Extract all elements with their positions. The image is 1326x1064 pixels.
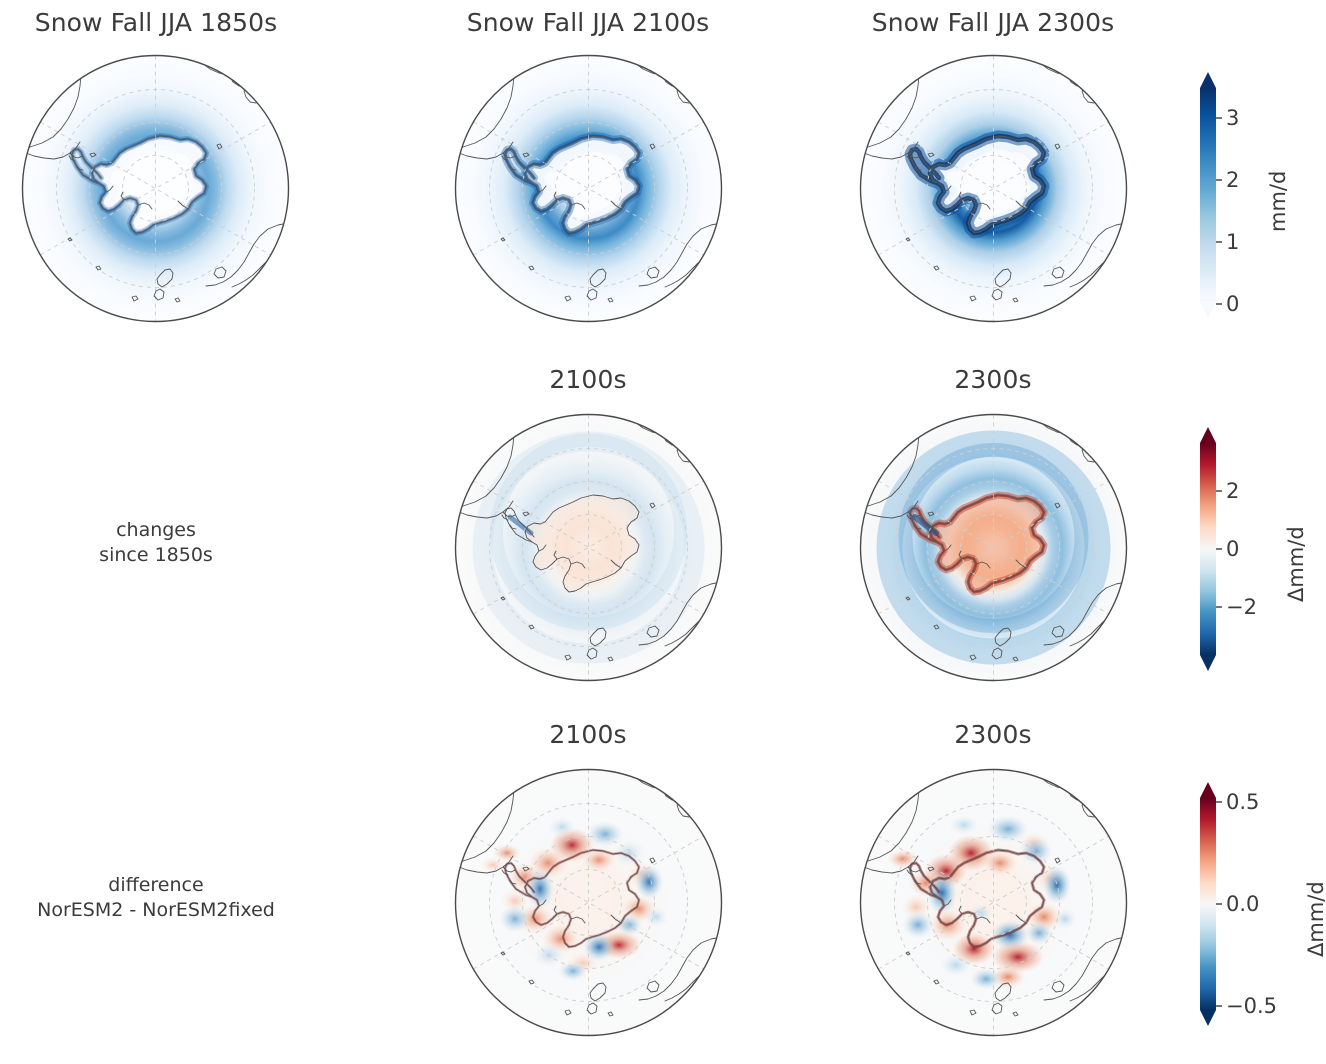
map-content-2300s-difference [858,769,1127,1036]
colorbar-changes: 2 0 −2 Δmm/d [1196,427,1226,671]
colorbar-absolute: 3 2 1 0 mm/d [1196,72,1226,316]
map-svg-r0c1 [453,53,724,324]
row-label-changes-line2: since 1850s [0,543,312,568]
colorbar-changes-extend-bottom [1200,655,1216,671]
map-svg-r2c1 [453,767,724,1038]
map-panel-r2c1[interactable] [453,767,724,1038]
colorbar-absolute-extend-bottom [1200,300,1216,316]
map-content-1850s-absolute [20,55,289,322]
panel-title-r1c1: 2100s [432,365,744,394]
map-panel-r0c0[interactable] [20,53,291,324]
map-svg-r2c2 [858,767,1129,1038]
colorbar-difference-svg [1196,782,1226,1026]
panel-title-r0c0: Snow Fall JJA 1850s [0,8,312,37]
colorbar-difference-ticklabel-2: −0.5 [1226,994,1277,1018]
map-content-2100s-difference [453,769,722,1036]
colorbar-absolute-ticklabel-2: 1 [1226,230,1239,254]
colorbar-absolute-svg [1196,72,1226,316]
colorbar-difference-ticklabel-1: 0.0 [1226,892,1259,916]
colorbar-difference-body [1200,798,1216,1010]
map-panel-r1c2[interactable] [858,412,1129,683]
colorbar-difference-extend-bottom [1200,1010,1216,1026]
map-panel-r0c2[interactable] [858,53,1129,324]
map-svg-r0c2 [858,53,1129,324]
colorbar-difference-axis-label: Δmm/d [1304,881,1326,957]
map-content-2100s-change [453,414,722,681]
colorbar-changes-body [1200,443,1216,655]
colorbar-changes-svg [1196,427,1226,671]
map-panel-r1c1[interactable] [453,412,724,683]
panel-title-r0c1: Snow Fall JJA 2100s [432,8,744,37]
colorbar-changes-extend-top [1200,427,1216,443]
colorbar-absolute-axis-label: mm/d [1266,171,1290,232]
row-label-difference-line2: NorESM2 - NorESM2fixed [0,898,312,923]
colorbar-difference-ticklabel-0: 0.5 [1226,790,1259,814]
colorbar-changes-ticklabel-0: 2 [1226,479,1239,503]
figure-canvas: Snow Fall JJA 1850s Snow Fall JJA 2100s … [0,0,1326,1064]
row-label-changes-line1: changes [0,518,312,543]
colorbar-absolute-extend-top [1200,72,1216,88]
panel-title-r1c2: 2300s [837,365,1149,394]
colorbar-absolute-body [1200,88,1216,300]
colorbar-difference: 0.5 0.0 −0.5 Δmm/d [1196,782,1226,1026]
panel-title-r2c1: 2100s [432,720,744,749]
colorbar-changes-axis-label: Δmm/d [1284,526,1308,602]
panel-title-r0c2: Snow Fall JJA 2300s [837,8,1149,37]
map-content-2300s-absolute [858,55,1127,322]
panel-title-r2c2: 2300s [837,720,1149,749]
map-svg-r0c0 [20,53,291,324]
row-label-difference: difference NorESM2 - NorESM2fixed [0,873,312,923]
map-content-2300s-change [858,414,1127,681]
colorbar-changes-ticklabel-2: −2 [1226,595,1257,619]
map-svg-r1c1 [453,412,724,683]
colorbar-absolute-ticklabel-0: 3 [1226,106,1239,130]
colorbar-absolute-ticklabel-1: 2 [1226,168,1239,192]
map-panel-r0c1[interactable] [453,53,724,324]
map-svg-r1c2 [858,412,1129,683]
row-label-difference-line1: difference [0,873,312,898]
colorbar-changes-ticklabel-1: 0 [1226,537,1239,561]
row-label-changes: changes since 1850s [0,518,312,568]
map-content-2100s-absolute [453,55,722,322]
colorbar-absolute-ticklabel-3: 0 [1226,292,1239,316]
colorbar-difference-extend-top [1200,782,1216,798]
map-panel-r2c2[interactable] [858,767,1129,1038]
